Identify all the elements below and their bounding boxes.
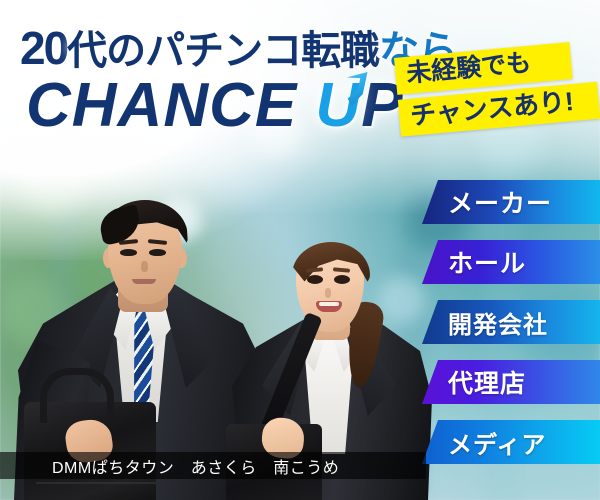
category-label: 開発会社 bbox=[448, 305, 548, 340]
caption-text: DMMぱちタウン あさくら 南こうめ bbox=[52, 454, 339, 478]
category-item-hall[interactable]: ホール bbox=[422, 240, 600, 284]
headline-main: 代のパチンコ転職 bbox=[67, 29, 379, 73]
chance-up-banner[interactable]: 20代のパチンコ転職なら CHANCE UP 未経験でも チャンスあり! メーカ… bbox=[0, 0, 600, 500]
logo-u-letter: U bbox=[315, 70, 361, 141]
caption-strip: DMMぱちタウン あさくら 南こうめ bbox=[0, 452, 426, 479]
woman-mouth bbox=[316, 301, 342, 312]
woman-nose bbox=[325, 288, 331, 298]
man-eye-right bbox=[149, 249, 166, 256]
chance-up-logo: CHANCE UP bbox=[26, 70, 404, 141]
category-label: ホール bbox=[448, 244, 526, 280]
category-item-development[interactable]: 開発会社 bbox=[422, 300, 600, 344]
category-label: メーカー bbox=[448, 184, 552, 220]
logo-chance-text: CHANCE bbox=[26, 71, 315, 140]
category-item-agency[interactable]: 代理店 bbox=[422, 360, 600, 404]
woman-eye-right bbox=[334, 275, 350, 284]
headline-number: 20 bbox=[20, 22, 67, 74]
category-list: メーカー ホール 開発会社 代理店 メディア bbox=[422, 180, 600, 480]
category-item-maker[interactable]: メーカー bbox=[422, 180, 600, 224]
headline: 20代のパチンコ転職なら bbox=[20, 18, 457, 76]
man-briefcase-seam bbox=[36, 482, 156, 484]
man-eye-left bbox=[120, 249, 137, 256]
man-mouth bbox=[132, 279, 156, 284]
people-photo bbox=[0, 130, 430, 500]
category-label: メディア bbox=[448, 425, 546, 460]
woman-eye-left bbox=[307, 275, 323, 284]
logo-u-glyph: U bbox=[315, 71, 361, 140]
man-nose bbox=[141, 261, 148, 272]
category-label: 代理店 bbox=[448, 364, 526, 400]
category-item-media[interactable]: メディア bbox=[422, 420, 600, 464]
inexperienced-welcome-badge: 未経験でも チャンスあり! bbox=[394, 39, 600, 157]
